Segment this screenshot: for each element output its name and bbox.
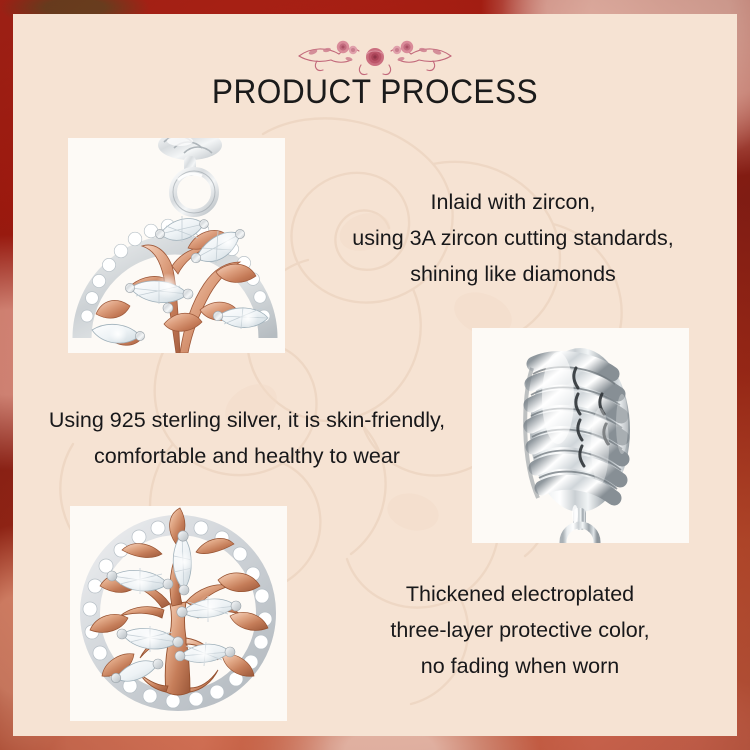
floral-rose-divider-icon bbox=[287, 30, 463, 78]
silver-clasp-illustration bbox=[472, 328, 689, 543]
feature-line: Thickened electroplated bbox=[355, 576, 685, 612]
feature-text-silver: Using 925 sterling silver, it is skin-fr… bbox=[21, 402, 473, 474]
feature-line: Using 925 sterling silver, it is skin-fr… bbox=[21, 402, 473, 438]
product-photo-silver-clasp bbox=[472, 328, 689, 543]
product-photo-tree-pendant bbox=[70, 506, 287, 721]
product-photo-zircon-closeup bbox=[68, 138, 285, 353]
feature-text-zircon: Inlaid with zircon, using 3A zircon cutt… bbox=[313, 184, 713, 292]
feature-line: shining like diamonds bbox=[313, 256, 713, 292]
feature-text-plating: Thickened electroplated three-layer prot… bbox=[355, 576, 685, 684]
feature-line: three-layer protective color, bbox=[355, 612, 685, 648]
page-title: PRODUCT PROCESS bbox=[38, 72, 711, 112]
feature-line: Inlaid with zircon, bbox=[313, 184, 713, 220]
zircon-closeup-illustration bbox=[68, 138, 285, 353]
content-panel: PRODUCT PROCESS bbox=[13, 14, 737, 736]
feature-line: using 3A zircon cutting standards, bbox=[313, 220, 713, 256]
feature-line: comfortable and healthy to wear bbox=[21, 438, 473, 474]
tree-pendant-illustration bbox=[70, 506, 287, 721]
feature-line: no fading when worn bbox=[355, 648, 685, 684]
product-process-poster: PRODUCT PROCESS bbox=[0, 0, 750, 750]
